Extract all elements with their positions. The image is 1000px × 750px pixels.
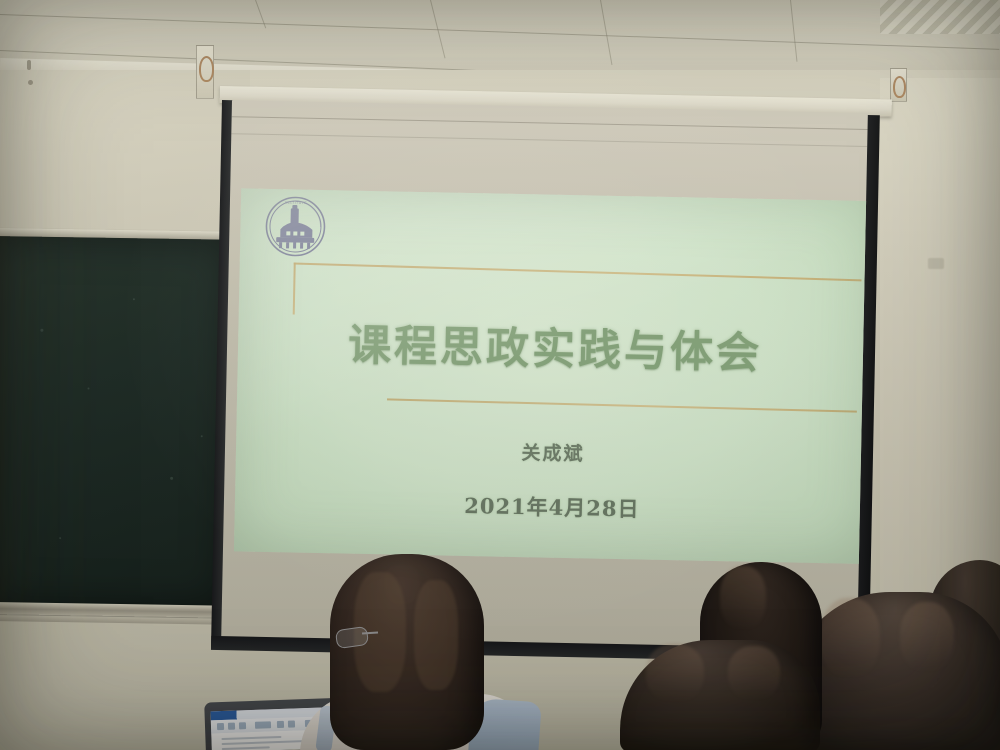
screen-surface: INSTITUTE 课程思政实践与体会 关成斌 2021年4月28日 bbox=[221, 100, 868, 651]
slide-presenter-name: 关成斌 bbox=[236, 432, 868, 472]
slide-title: 课程思政实践与体会 bbox=[238, 308, 868, 383]
lecture-hall-photo: INSTITUTE 课程思政实践与体会 关成斌 2021年4月28日 bbox=[0, 0, 1000, 750]
chalkboard-surface bbox=[0, 236, 230, 608]
slide-divider-rule bbox=[387, 398, 857, 412]
screen-mount-hook bbox=[199, 56, 214, 82]
wall-screw-mark bbox=[28, 80, 33, 85]
slide-accent-vertical bbox=[293, 262, 296, 314]
ceiling-vent bbox=[880, 0, 1000, 34]
screen-mount-hook bbox=[893, 76, 906, 98]
chalkboard bbox=[0, 228, 232, 634]
projected-slide: INSTITUTE 课程思政实践与体会 关成斌 2021年4月28日 bbox=[234, 188, 868, 564]
screen-pull-handle[interactable] bbox=[681, 655, 719, 670]
wall-screw-mark bbox=[27, 60, 31, 70]
university-crest-logo: INSTITUTE bbox=[264, 195, 327, 258]
projector-screen[interactable]: INSTITUTE 课程思政实践与体会 关成斌 2021年4月28日 bbox=[211, 100, 882, 668]
slide-date: 2021年4月28日 bbox=[235, 485, 868, 528]
slide-accent-horizontal bbox=[294, 262, 862, 281]
svg-text:INSTITUTE: INSTITUTE bbox=[285, 201, 307, 205]
right-wall bbox=[880, 78, 1000, 750]
